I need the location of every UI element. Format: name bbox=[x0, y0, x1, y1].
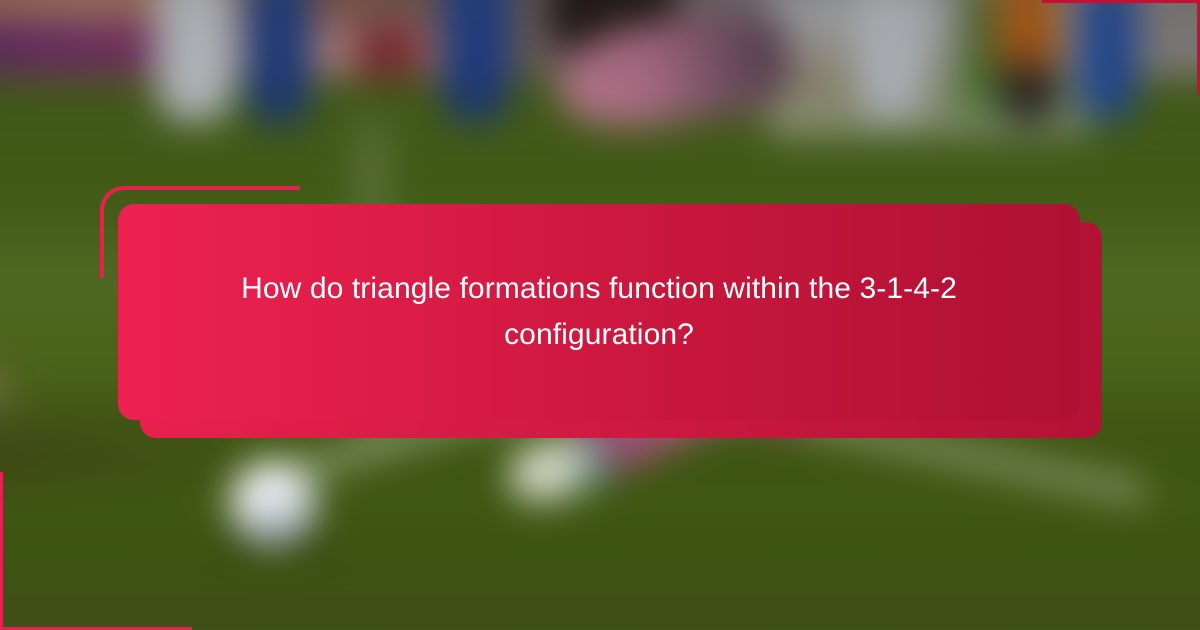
question-text: How do triangle formations function with… bbox=[204, 266, 994, 359]
question-card-stack: How do triangle formations function with… bbox=[0, 0, 1200, 630]
question-card: How do triangle formations function with… bbox=[118, 204, 1080, 420]
share-card-canvas: How do triangle formations function with… bbox=[0, 0, 1200, 630]
